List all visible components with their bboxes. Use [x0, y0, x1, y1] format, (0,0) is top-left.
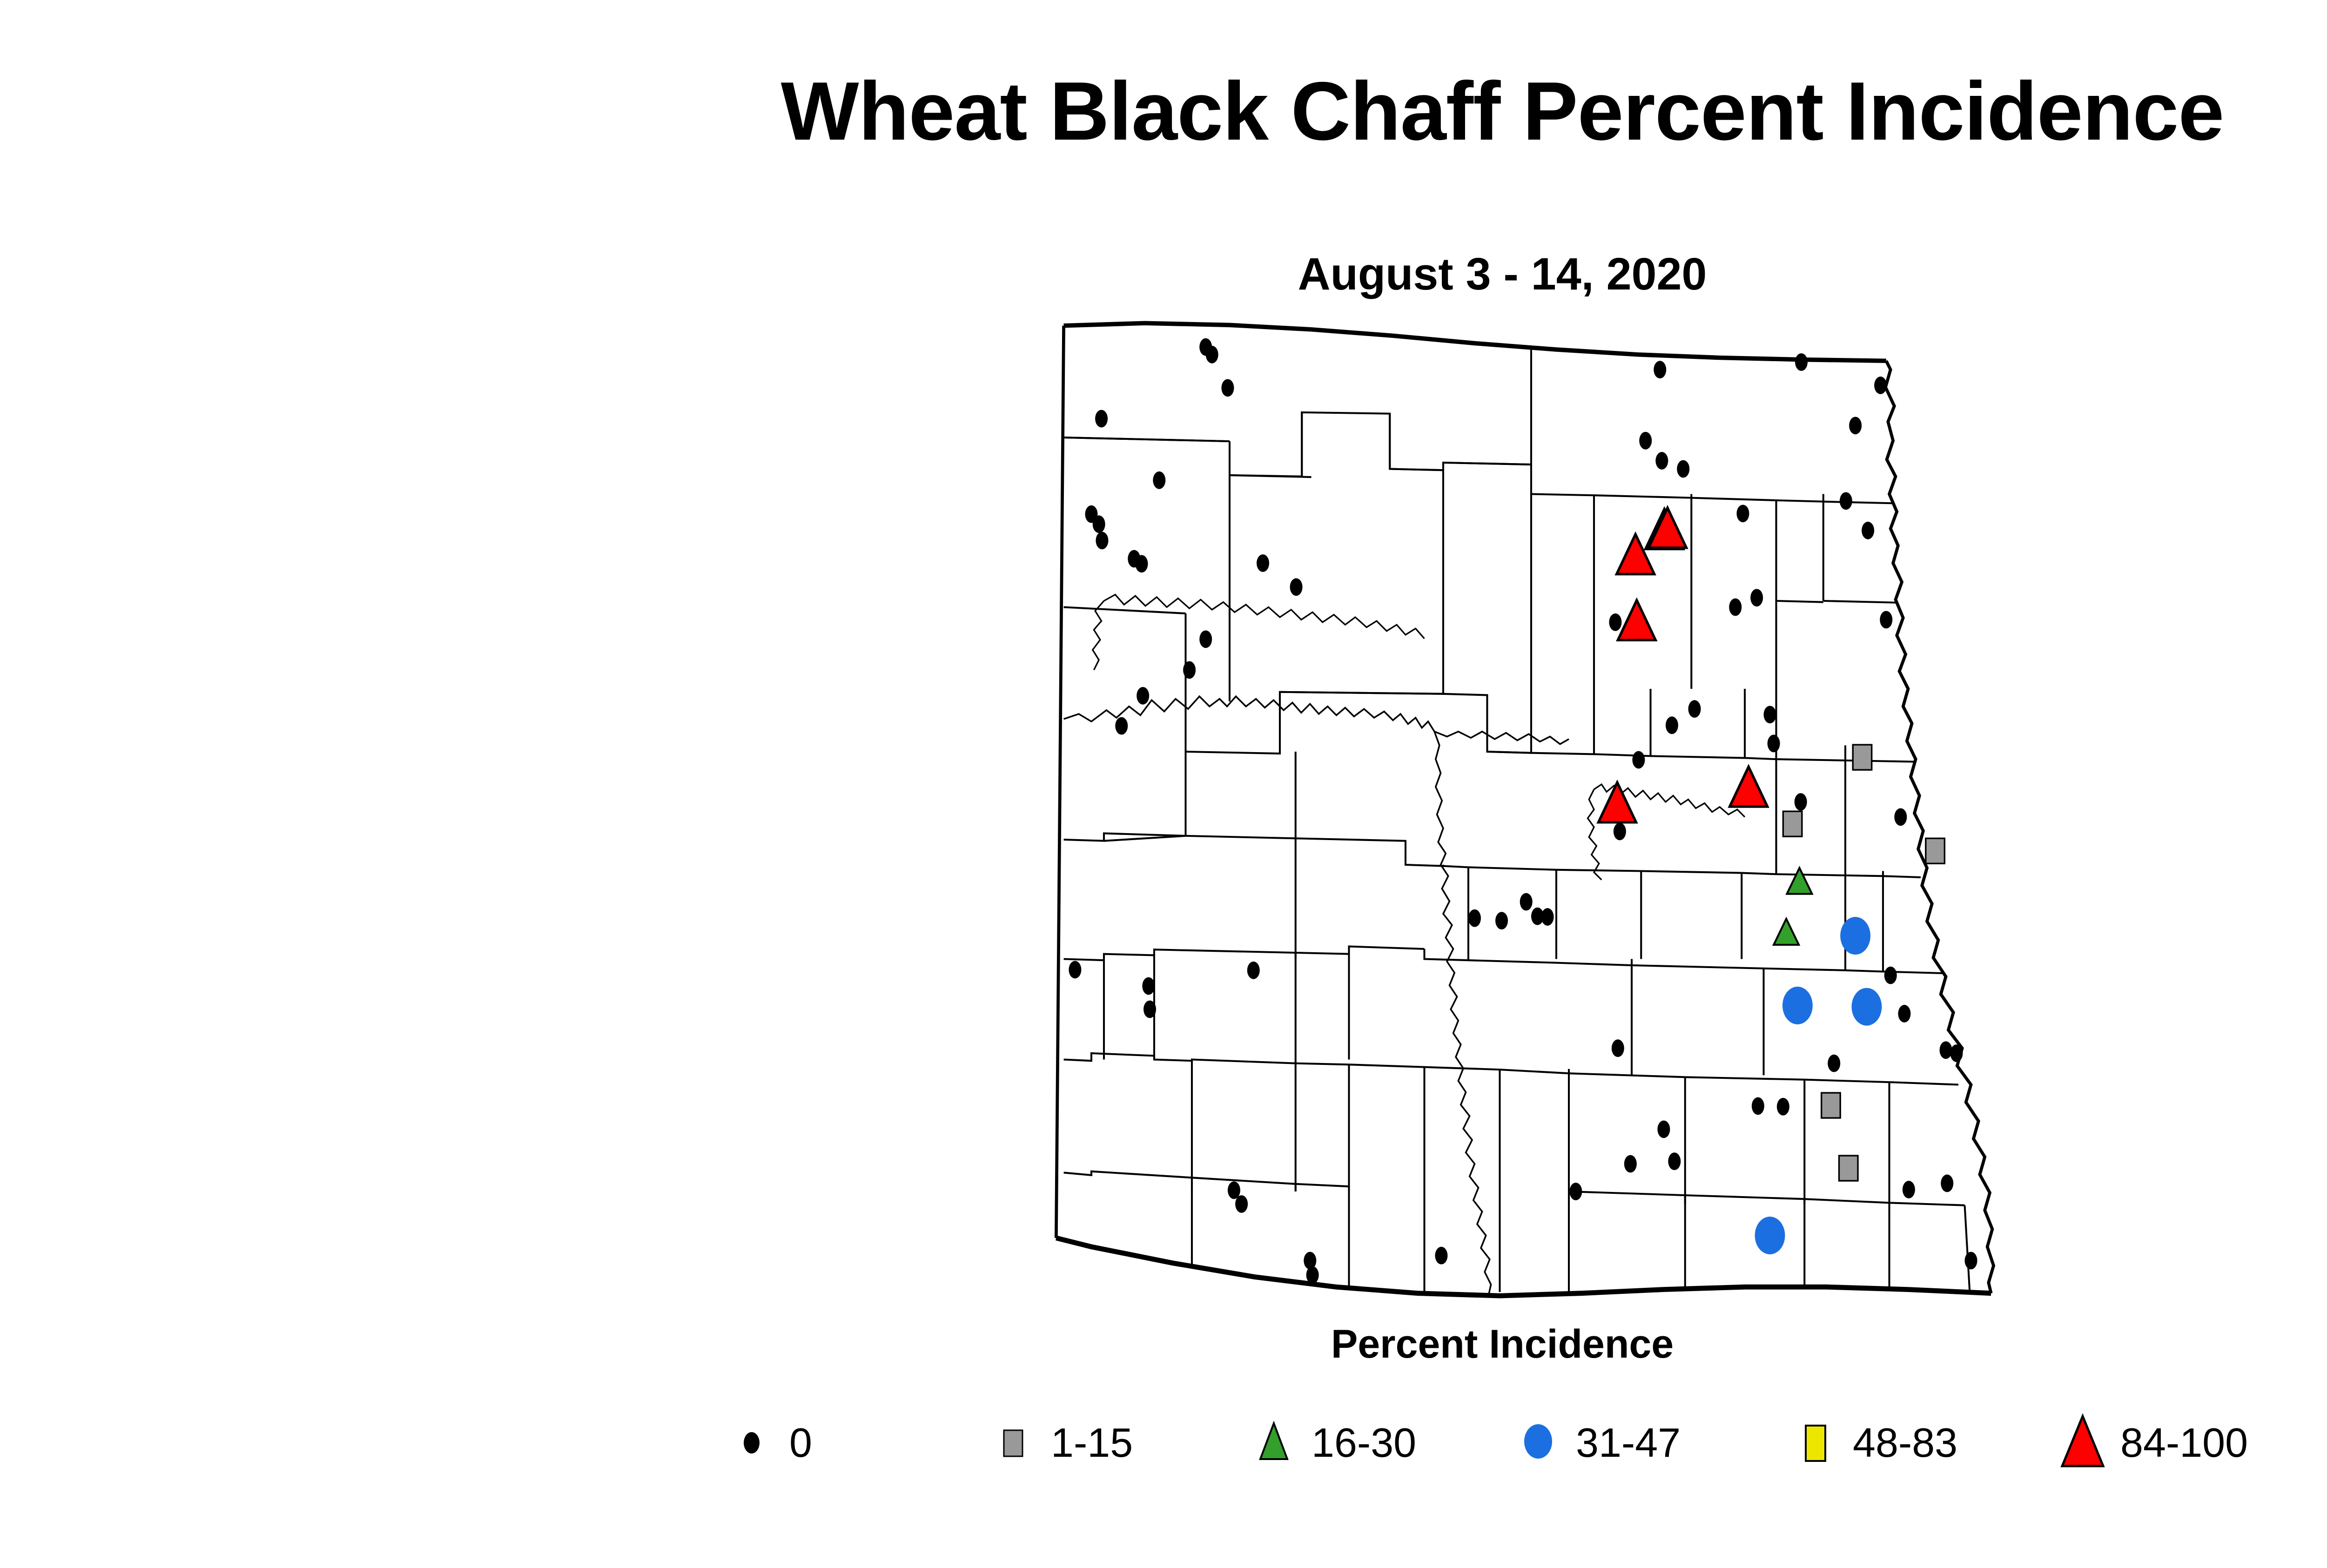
map-marker-0[interactable]	[1206, 346, 1218, 363]
map-marker-0[interactable]	[1880, 611, 1892, 629]
map-marker-0[interactable]	[1950, 1044, 1963, 1062]
legend-item-4[interactable]: 48-83	[1780, 1403, 1957, 1482]
map-marker-0[interactable]	[1874, 377, 1887, 394]
legend-triangle-icon	[2048, 1408, 2118, 1478]
legend-item-0[interactable]: 0	[717, 1403, 812, 1482]
legend-label: 48-83	[1853, 1422, 1957, 1463]
map-marker-0[interactable]	[1614, 823, 1626, 841]
map-marker-1-15[interactable]	[1839, 1156, 1858, 1181]
page-subtitle: August 3 - 14, 2020	[0, 251, 2327, 296]
map-marker-0[interactable]	[1221, 379, 1234, 397]
map-marker-1-15[interactable]	[1853, 745, 1872, 770]
legend: 0 1-15 16-30 31-47 48-83	[717, 1403, 2322, 1482]
map-marker-0[interactable]	[1153, 471, 1165, 489]
legend-label: 1-15	[1051, 1422, 1133, 1463]
legend-circle-icon	[1503, 1408, 1573, 1478]
map-marker-0[interactable]	[1069, 961, 1081, 979]
map-marker-0[interactable]	[1840, 492, 1852, 510]
page-title: Wheat Black Chaff Percent Incidence	[0, 70, 2327, 153]
map-marker-0[interactable]	[1795, 793, 1807, 811]
map-marker-0[interactable]	[1541, 908, 1554, 926]
legend-dot-icon	[717, 1408, 787, 1478]
legend-item-3[interactable]: 31-47	[1503, 1403, 1681, 1482]
map-marker-0[interactable]	[1093, 515, 1105, 533]
map-marker-0[interactable]	[1657, 1120, 1670, 1138]
map-marker-0[interactable]	[1142, 977, 1155, 995]
legend-item-2[interactable]: 16-30	[1239, 1403, 1416, 1482]
map-marker-0[interactable]	[1903, 1181, 1915, 1198]
map-marker-0[interactable]	[1095, 410, 1108, 428]
map-marker-0[interactable]	[1520, 893, 1533, 911]
map-marker-0[interactable]	[1435, 1247, 1447, 1265]
map-marker-0[interactable]	[1137, 687, 1149, 705]
map-marker-0[interactable]	[1495, 912, 1508, 929]
legend-label: 31-47	[1576, 1422, 1681, 1463]
map-marker-0[interactable]	[1862, 522, 1874, 539]
legend-title: Percent Incidence	[0, 1324, 2327, 1364]
north-dakota-map[interactable]	[670, 312, 2327, 1317]
map-marker-0[interactable]	[1750, 589, 1763, 606]
map-marker-0[interactable]	[1609, 613, 1621, 631]
map-marker-0[interactable]	[1940, 1041, 1952, 1059]
map-marker-0[interactable]	[1199, 630, 1212, 648]
map-marker-0[interactable]	[1898, 1005, 1910, 1023]
state-fill	[1056, 323, 1993, 1296]
map-marker-0[interactable]	[1612, 1039, 1624, 1057]
map-marker-0[interactable]	[1115, 717, 1128, 735]
poster-page: Wheat Black Chaff Percent Incidence Augu…	[0, 0, 2327, 1568]
map-marker-1-15[interactable]	[1783, 811, 1802, 836]
map-marker-0[interactable]	[1884, 967, 1897, 984]
map-marker-0[interactable]	[1849, 417, 1862, 434]
map-svg	[670, 312, 2327, 1317]
map-marker-0[interactable]	[1677, 460, 1689, 478]
map-marker-0[interactable]	[1306, 1266, 1319, 1284]
map-marker-31-47[interactable]	[1852, 988, 1882, 1026]
map-marker-0[interactable]	[1639, 432, 1652, 450]
map-marker-0[interactable]	[1654, 361, 1666, 378]
map-marker-0[interactable]	[1736, 505, 1749, 522]
map-marker-0[interactable]	[1096, 532, 1108, 550]
legend-item-5[interactable]: 84-100	[2048, 1403, 2248, 1482]
map-marker-1-15[interactable]	[1822, 1093, 1841, 1118]
map-marker-0[interactable]	[1136, 555, 1148, 572]
legend-label: 16-30	[1311, 1422, 1416, 1463]
map-marker-0[interactable]	[1228, 1181, 1240, 1199]
map-marker-0[interactable]	[1688, 700, 1701, 718]
map-marker-0[interactable]	[1257, 554, 1269, 572]
map-marker-0[interactable]	[1965, 1252, 1977, 1270]
legend-triangle-icon	[1239, 1408, 1309, 1478]
map-marker-0[interactable]	[1569, 1183, 1582, 1200]
map-marker-1-15[interactable]	[1926, 838, 1945, 863]
legend-label: 0	[789, 1422, 812, 1463]
map-marker-0[interactable]	[1632, 751, 1645, 769]
map-marker-0[interactable]	[1624, 1155, 1637, 1173]
map-marker-31-47[interactable]	[1840, 917, 1870, 955]
map-marker-0[interactable]	[1777, 1098, 1789, 1116]
map-marker-0[interactable]	[1729, 599, 1742, 616]
map-marker-0[interactable]	[1666, 716, 1678, 734]
map-marker-0[interactable]	[1183, 661, 1196, 679]
legend-square-icon	[978, 1408, 1048, 1478]
map-marker-31-47[interactable]	[1755, 1217, 1785, 1254]
map-marker-0[interactable]	[1764, 706, 1776, 723]
map-marker-0[interactable]	[1655, 452, 1668, 470]
map-marker-0[interactable]	[1290, 578, 1303, 596]
map-marker-0[interactable]	[1247, 962, 1260, 979]
legend-label: 84-100	[2120, 1422, 2248, 1463]
map-marker-0[interactable]	[1668, 1152, 1681, 1170]
legend-item-1[interactable]: 1-15	[978, 1403, 1133, 1482]
map-marker-0[interactable]	[1235, 1195, 1248, 1213]
map-marker-0[interactable]	[1468, 909, 1481, 927]
map-marker-0[interactable]	[1941, 1175, 1953, 1192]
legend-square-icon	[1780, 1408, 1850, 1478]
map-marker-0[interactable]	[1768, 735, 1780, 753]
map-marker-0[interactable]	[1795, 353, 1808, 371]
map-marker-31-47[interactable]	[1782, 987, 1813, 1024]
map-marker-0[interactable]	[1143, 1001, 1156, 1018]
map-marker-0[interactable]	[1828, 1055, 1840, 1072]
map-marker-0[interactable]	[1752, 1097, 1764, 1115]
map-marker-0[interactable]	[1894, 808, 1907, 826]
